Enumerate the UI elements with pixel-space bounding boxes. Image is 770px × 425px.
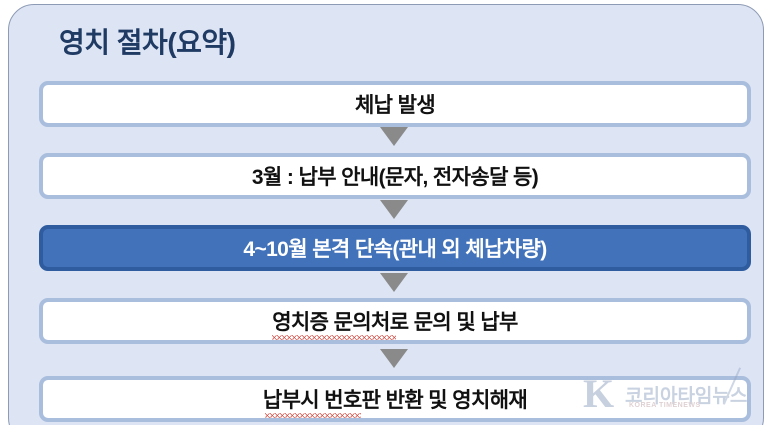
flow-step-label-2: 3월 : 납부 안내(문자, 전자송달 등) — [252, 161, 538, 191]
flowchart-panel: 영치 절차(요약) 체납 발생 3월 : 납부 안내(문자, 전자송달 등) 4… — [8, 4, 764, 425]
arrow-down-icon — [380, 349, 408, 368]
diagram-canvas: 영치 절차(요약) 체납 발생 3월 : 납부 안내(문자, 전자송달 등) 4… — [0, 0, 770, 425]
spellcheck-underline — [272, 335, 396, 340]
arrow-down-icon — [380, 200, 408, 219]
flow-step-box-5: 납부시 번호판 반환 및 영치해재 — [39, 376, 751, 422]
arrow-down-icon — [380, 127, 408, 146]
arrow-down-icon — [380, 273, 408, 292]
flow-step-label-3: 4~10월 본격 단속(관내 외 체납차량) — [243, 233, 546, 263]
page-title: 영치 절차(요약) — [59, 21, 236, 61]
flow-step-box-1: 체납 발생 — [39, 81, 751, 127]
flow-step-label-4: 영치증 문의처로 문의 및 납부 — [272, 306, 518, 336]
flow-step-box-3-highlighted: 4~10월 본격 단속(관내 외 체납차량) — [39, 225, 751, 271]
flow-step-box-4: 영치증 문의처로 문의 및 납부 — [39, 298, 751, 344]
flow-step-label-1: 체납 발생 — [355, 89, 435, 119]
flow-step-label-5: 납부시 번호판 반환 및 영치해재 — [263, 384, 527, 414]
flow-step-box-2: 3월 : 납부 안내(문자, 전자송달 등) — [39, 153, 751, 199]
spellcheck-underline — [265, 413, 361, 418]
